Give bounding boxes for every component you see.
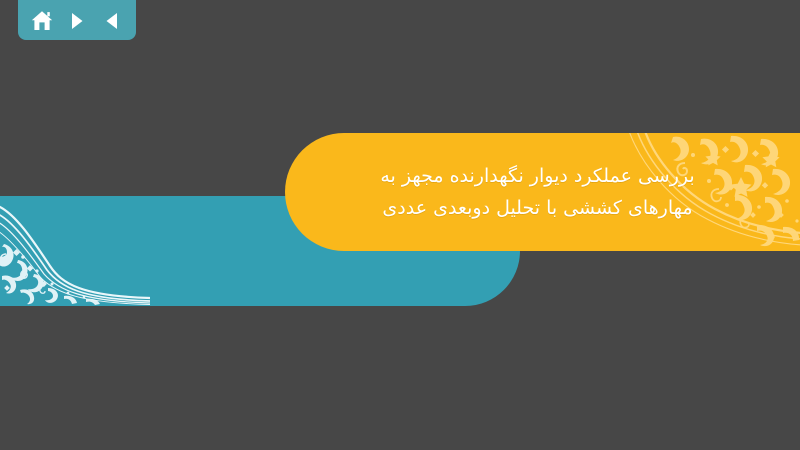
title-panel: بررسی عملکرد دیوار نگهدارنده مجهز به مها… — [285, 133, 800, 251]
teal-arabesque-ornament — [0, 198, 150, 306]
slide-title: بررسی عملکرد دیوار نگهدارنده مجهز به مها… — [285, 133, 800, 251]
triangle-left-icon — [101, 10, 123, 32]
home-button[interactable] — [29, 8, 55, 34]
back-button[interactable] — [99, 8, 125, 34]
home-icon — [30, 9, 54, 33]
forward-button[interactable] — [64, 8, 90, 34]
slide-canvas: بررسی عملکرد دیوار نگهدارنده مجهز به مها… — [0, 0, 800, 450]
navigation-bar — [18, 0, 136, 40]
title-line-2: مهارهای کششی با تحلیل دوبعدی عددی — [382, 193, 692, 223]
triangle-right-icon — [66, 10, 88, 32]
title-line-1: بررسی عملکرد دیوار نگهدارنده مجهز به — [380, 161, 694, 191]
